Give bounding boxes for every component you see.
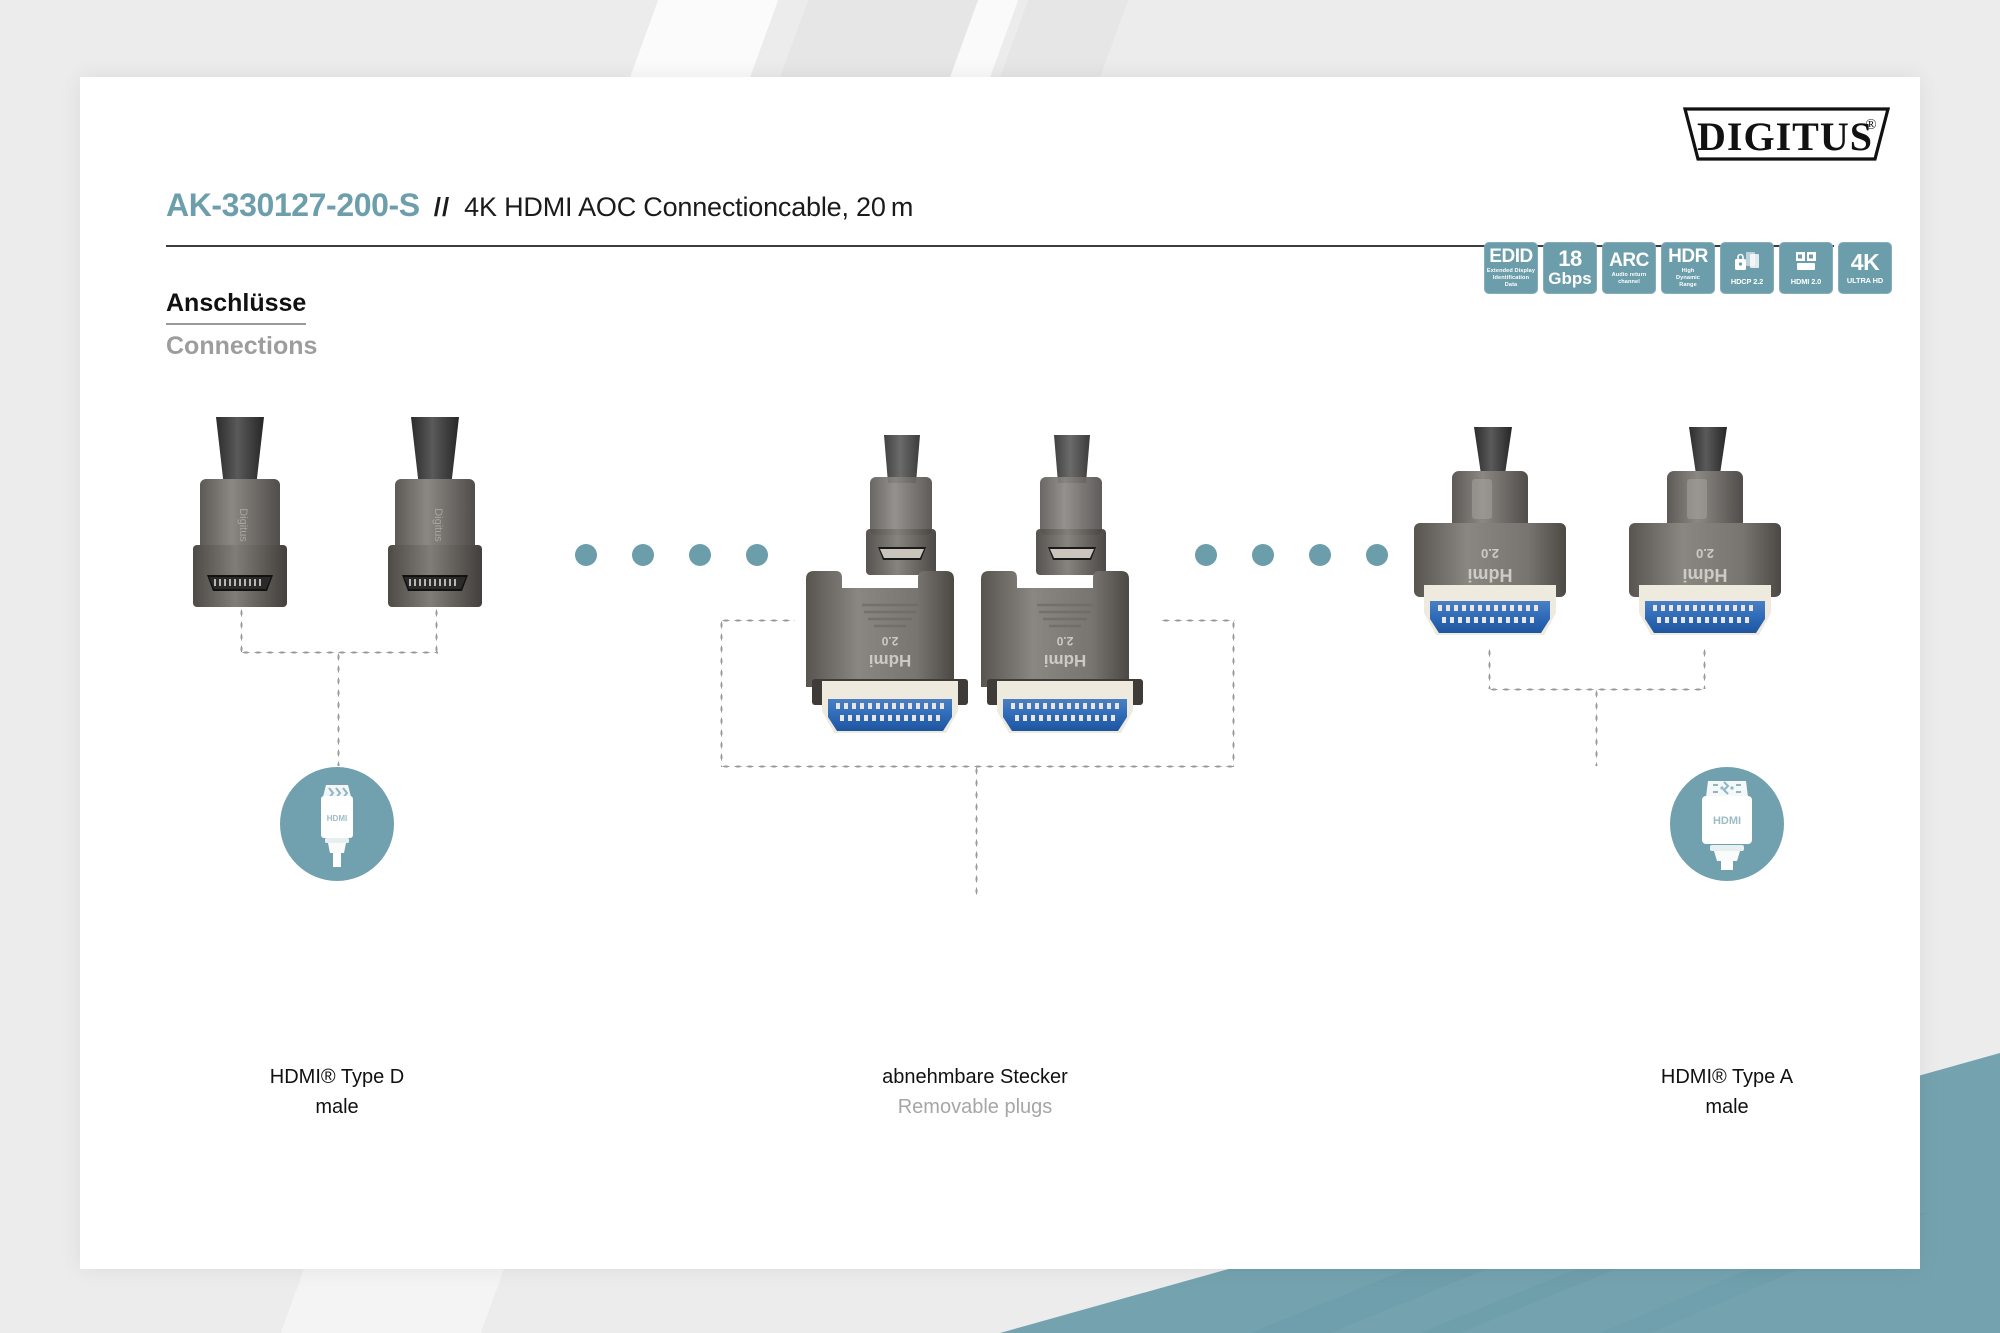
lock-documents-icon	[1732, 250, 1762, 275]
digitus-logo: DIGITUS ®	[1679, 103, 1894, 165]
plug-brand-mark: Hdmi	[869, 651, 912, 670]
caption-left: HDMI® Type D male	[167, 1062, 507, 1122]
hdmi-type-a-connector-photo: Hdmi 2.0	[1400, 427, 1580, 657]
plug-brand-mark: Hdmi	[1044, 651, 1087, 670]
hdmi-plug-circle-icon: HDMI	[1670, 767, 1784, 881]
badge-hdmi20: HDMI 2.0	[1779, 242, 1833, 294]
leader-line	[435, 607, 438, 652]
title-row: AK-330127-200-S // 4K HDMI AOC Connectio…	[166, 187, 1834, 224]
cable-dot	[1366, 544, 1388, 566]
page-card: DIGITUS ® AK-330127-200-S // 4K HDMI AOC…	[80, 77, 1920, 1269]
badge-hdmi20-caption: HDMI 2.0	[1791, 277, 1821, 286]
badge-hdcp-caption: HDCP 2.2	[1731, 277, 1763, 286]
detachable-micro-end-photo	[840, 435, 960, 585]
cable-dot	[1309, 544, 1331, 566]
cable-run-dots-left	[575, 544, 768, 566]
micro-hdmi-connector-photo: Digitus	[160, 417, 320, 617]
connector-brand-mark: Digitus	[432, 508, 444, 542]
badge-4k-title: 4K	[1851, 251, 1879, 274]
leader-line	[720, 619, 795, 622]
monitor-icon	[1791, 250, 1821, 275]
micro-hdmi-plug-icon: HDMI	[302, 781, 372, 867]
leader-line	[1488, 647, 1491, 689]
caption-right-sub: male	[1557, 1092, 1897, 1122]
removable-hdmi-plug-photo: Hdmi 2.0	[800, 569, 980, 741]
micro-hdmi-connector-photo: Digitus	[355, 417, 515, 617]
cable-run-dots-right	[1195, 544, 1388, 566]
hdmi-plug-icon: HDMI	[1686, 778, 1768, 870]
leader-line	[975, 765, 978, 895]
leader-line	[1595, 688, 1598, 766]
leader-line	[240, 607, 243, 652]
connector-brand-mark: Digitus	[237, 508, 249, 542]
badge-arc: ARC Audio returnchannel	[1602, 242, 1656, 294]
caption-middle-label-de: abnehmbare Stecker	[805, 1062, 1145, 1092]
leader-line	[337, 651, 340, 766]
badge-18gbps-unit: Gbps	[1548, 270, 1591, 288]
section-heading-en: Connections	[166, 332, 317, 361]
badge-4k: 4K ULTRA HD	[1838, 242, 1892, 294]
removable-hdmi-plug-photo: Hdmi 2.0	[975, 569, 1155, 741]
badge-edid-title: EDID	[1489, 247, 1532, 266]
caption-middle: abnehmbare Stecker Removable plugs	[805, 1062, 1145, 1122]
article-number: AK-330127-200-S	[166, 187, 420, 224]
caption-right-label: HDMI® Type A	[1557, 1062, 1897, 1092]
badge-18gbps-value: 18	[1558, 248, 1581, 270]
badge-hdr-subtitle: HighDynamicRange	[1676, 268, 1700, 288]
connector-diagram-stage: Digitus Digitus	[80, 407, 1920, 1047]
leader-line	[720, 619, 723, 767]
plug-version-mark: 2.0	[1696, 546, 1714, 561]
hdmi-type-a-connector-photo: Hdmi 2.0	[1615, 427, 1795, 657]
badge-hdr: HDR HighDynamicRange	[1661, 242, 1715, 294]
badge-edid: EDID Extended DisplayIdentification Data	[1484, 242, 1538, 294]
badge-edid-subtitle: Extended DisplayIdentification Data	[1486, 268, 1536, 288]
badge-hdr-title: HDR	[1668, 247, 1708, 266]
logo-registered-mark: ®	[1865, 117, 1876, 133]
leader-line	[1703, 647, 1706, 689]
plug-version-mark: 2.0	[1481, 546, 1499, 561]
cable-dot	[689, 544, 711, 566]
section-heading-de: Anschlüsse	[166, 289, 306, 325]
svg-text:HDMI: HDMI	[1713, 815, 1741, 827]
section-heading: Anschlüsse Connections	[166, 289, 317, 361]
logo-text: DIGITUS	[1697, 114, 1873, 159]
caption-left-label: HDMI® Type D	[167, 1062, 507, 1092]
leader-line	[1232, 619, 1235, 767]
badge-18gbps: 18 Gbps	[1543, 242, 1597, 294]
micro-hdmi-plug-circle-icon: HDMI	[280, 767, 394, 881]
badge-hdcp: HDCP 2.2	[1720, 242, 1774, 294]
feature-badge-strip: EDID Extended DisplayIdentification Data…	[1484, 242, 1892, 294]
leader-line	[1160, 619, 1235, 622]
title-separator: //	[434, 192, 450, 223]
caption-right: HDMI® Type A male	[1557, 1062, 1897, 1122]
cable-dot	[632, 544, 654, 566]
badge-arc-subtitle: Audio returnchannel	[1612, 272, 1647, 286]
plug-brand-mark: Hdmi	[1683, 565, 1728, 585]
plug-version-mark: 2.0	[881, 634, 898, 648]
cable-dot	[746, 544, 768, 566]
plug-version-mark: 2.0	[1056, 634, 1073, 648]
badge-4k-caption: ULTRA HD	[1847, 276, 1883, 285]
detachable-micro-end-photo	[1010, 435, 1130, 585]
cable-dot	[1252, 544, 1274, 566]
plug-brand-mark: Hdmi	[1468, 565, 1513, 585]
caption-middle-label-en: Removable plugs	[805, 1092, 1145, 1122]
svg-text:HDMI: HDMI	[327, 814, 347, 823]
caption-left-sub: male	[167, 1092, 507, 1122]
cable-dot	[1195, 544, 1217, 566]
product-title: 4K HDMI AOC Connectioncable, 20 m	[464, 192, 913, 223]
badge-arc-title: ARC	[1609, 251, 1649, 270]
cable-dot	[575, 544, 597, 566]
